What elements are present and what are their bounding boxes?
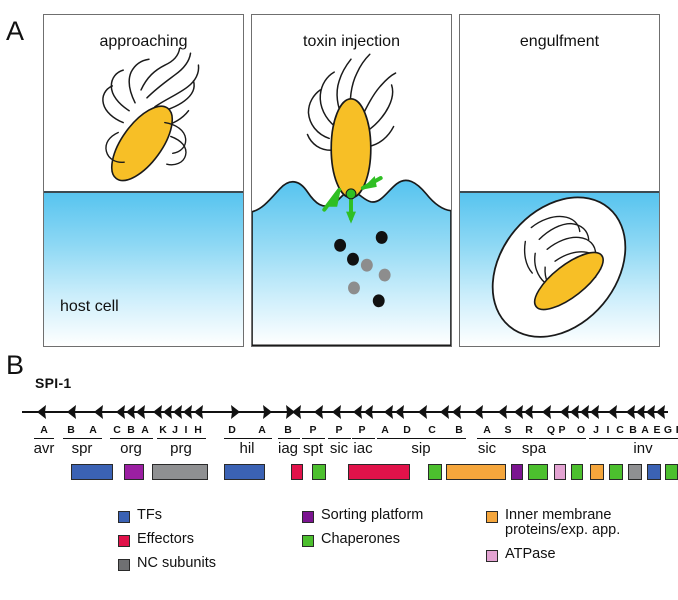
gene-block	[609, 464, 623, 480]
gene-block	[647, 464, 661, 480]
gene-arrow-left	[314, 405, 323, 419]
gene-letter: D	[228, 424, 236, 436]
gene-letter: I	[185, 424, 188, 436]
gene-arrow-left	[656, 405, 665, 419]
gene-arrow-left	[514, 405, 523, 419]
gene-arrow-left	[395, 405, 404, 419]
gene-letter: A	[381, 424, 389, 436]
gene-name: spa	[522, 440, 546, 457]
gene-letter: A	[40, 424, 48, 436]
gene-name: spt	[303, 440, 323, 457]
gene-arrow-right	[231, 405, 240, 419]
gene-block	[428, 464, 442, 480]
gene-letter: A	[89, 424, 97, 436]
gene-block	[628, 464, 642, 480]
legend-label: Inner membrane proteins/exp. app.	[505, 508, 620, 538]
gene-letter: A	[141, 424, 149, 436]
legend-swatch-icon	[302, 535, 314, 547]
gene-letter: C	[113, 424, 121, 436]
gene-block	[571, 464, 583, 480]
panel-a-label: A	[6, 18, 24, 45]
gene-letter: I	[607, 424, 610, 436]
gene-arrow-left	[590, 405, 599, 419]
gene-arrow-left	[292, 405, 301, 419]
gene-name: org	[120, 440, 142, 457]
legend-label: ATPase	[505, 547, 556, 562]
gene-arrow-left	[37, 405, 46, 419]
engulfed-bacterium-illustration	[460, 15, 659, 346]
gene-arrow-left	[183, 405, 192, 419]
gene-arrow-left	[452, 405, 461, 419]
gene-arrow-left	[440, 405, 449, 419]
gene-block	[528, 464, 548, 480]
legend-item: NC subunits	[118, 556, 216, 571]
gene-arrow-left	[570, 405, 579, 419]
legend-column-0: TFsEffectorsNC subunits	[118, 508, 216, 580]
gene-arrow-left	[636, 405, 645, 419]
gene-letter: R	[525, 424, 533, 436]
gene-arrow-left	[194, 405, 203, 419]
gene-letter: P	[358, 424, 365, 436]
panel-a-row: approaching host cell toxin	[43, 14, 674, 349]
legend-label: Sorting platform	[321, 508, 423, 523]
gene-arrow-left	[153, 405, 162, 419]
gene-letter: A	[483, 424, 491, 436]
gene-block	[124, 464, 144, 480]
gene-block	[554, 464, 566, 480]
gene-letter: A	[258, 424, 266, 436]
gene-block	[291, 464, 303, 480]
gene-block	[348, 464, 410, 480]
gene-block	[511, 464, 523, 480]
gene-letter: A	[641, 424, 649, 436]
legend-item: TFs	[118, 508, 216, 523]
gene-name: avr	[34, 440, 55, 457]
gene-name: iag	[278, 440, 298, 457]
gene-block	[665, 464, 678, 480]
gene-arrow-left	[474, 405, 483, 419]
legend-swatch-icon	[118, 535, 130, 547]
gene-letter: P	[335, 424, 342, 436]
gene-arrow-left	[163, 405, 172, 419]
gene-arrow-left	[126, 405, 135, 419]
gene-arrow-left	[524, 405, 533, 419]
gene-arrow-left	[116, 405, 125, 419]
legend-item: Effectors	[118, 532, 216, 547]
spi1-locus-label: SPI-1	[35, 375, 72, 391]
gene-arrow-left	[542, 405, 551, 419]
gene-block	[590, 464, 604, 480]
gene-name: iac	[353, 440, 372, 457]
gene-letter: S	[504, 424, 511, 436]
gene-letter: B	[67, 424, 75, 436]
gene-arrow-left	[418, 405, 427, 419]
gene-arrow-left	[498, 405, 507, 419]
gene-letter: O	[577, 424, 585, 436]
legend-column-1: Sorting platformChaperones	[302, 508, 423, 556]
gene-block	[224, 464, 265, 480]
legend-column-2: Inner membrane proteins/exp. app.ATPase	[486, 508, 620, 571]
gene-letter: Q	[547, 424, 555, 436]
legend-swatch-icon	[118, 559, 130, 571]
legend-item: Sorting platform	[302, 508, 423, 523]
gene-orientation-arrow-axis	[0, 398, 678, 426]
legend-swatch-icon	[118, 511, 130, 523]
panel-toxin-injection: toxin injection	[251, 14, 452, 347]
gene-letter: K	[159, 424, 167, 436]
legend-item: Chaperones	[302, 532, 423, 547]
legend-item: Inner membrane proteins/exp. app.	[486, 508, 620, 538]
gene-block	[446, 464, 506, 480]
legend-label: Effectors	[137, 532, 194, 547]
legend-label: Chaperones	[321, 532, 400, 547]
gene-letter: C	[616, 424, 624, 436]
gene-arrow-left	[136, 405, 145, 419]
legend-swatch-icon	[302, 511, 314, 523]
gene-arrow-left	[94, 405, 103, 419]
legend-label: TFs	[137, 508, 162, 523]
gene-arrow-left	[353, 405, 362, 419]
gene-letter: C	[428, 424, 436, 436]
panel-engulfment: engulfment	[459, 14, 660, 347]
gene-name: spr	[72, 440, 93, 457]
gene-block	[152, 464, 208, 480]
gene-arrow-left	[67, 405, 76, 419]
toxin-injection-illustration	[252, 15, 451, 346]
gene-name: hil	[239, 440, 254, 457]
gene-letter: G	[664, 424, 672, 436]
gene-letter: B	[127, 424, 135, 436]
gene-arrow-left	[580, 405, 589, 419]
legend: TFsEffectorsNC subunitsSorting platformC…	[118, 508, 658, 588]
gene-name: sip	[411, 440, 430, 457]
gene-arrow-left	[608, 405, 617, 419]
gene-name: sic	[478, 440, 496, 457]
legend-swatch-icon	[486, 550, 498, 562]
gene-arrow-left	[332, 405, 341, 419]
gene-arrow-left	[560, 405, 569, 419]
gene-name: inv	[633, 440, 652, 457]
gene-letter: B	[455, 424, 463, 436]
gene-letter: P	[558, 424, 565, 436]
gene-name: sic	[330, 440, 348, 457]
gene-letter: P	[309, 424, 316, 436]
gene-letter: B	[629, 424, 637, 436]
gene-block	[71, 464, 113, 480]
gene-letter: B	[284, 424, 292, 436]
gene-letter: E	[653, 424, 660, 436]
gene-arrow-left	[364, 405, 373, 419]
panel-approaching: approaching host cell	[43, 14, 244, 347]
legend-swatch-icon	[486, 511, 498, 523]
bacterium-approaching-illustration	[44, 15, 243, 346]
gene-arrow-left	[173, 405, 182, 419]
legend-item: ATPase	[486, 547, 620, 562]
gene-letter: J	[172, 424, 178, 436]
gene-block	[312, 464, 326, 480]
gene-arrow-left	[646, 405, 655, 419]
legend-label: NC subunits	[137, 556, 216, 571]
gene-letter: J	[593, 424, 599, 436]
gene-arrow-left	[626, 405, 635, 419]
gene-arrow-right	[263, 405, 272, 419]
panel-b-label: B	[6, 352, 24, 379]
gene-arrow-left	[384, 405, 393, 419]
gene-letter: D	[403, 424, 411, 436]
gene-name: prg	[170, 440, 192, 457]
gene-letter: H	[194, 424, 202, 436]
